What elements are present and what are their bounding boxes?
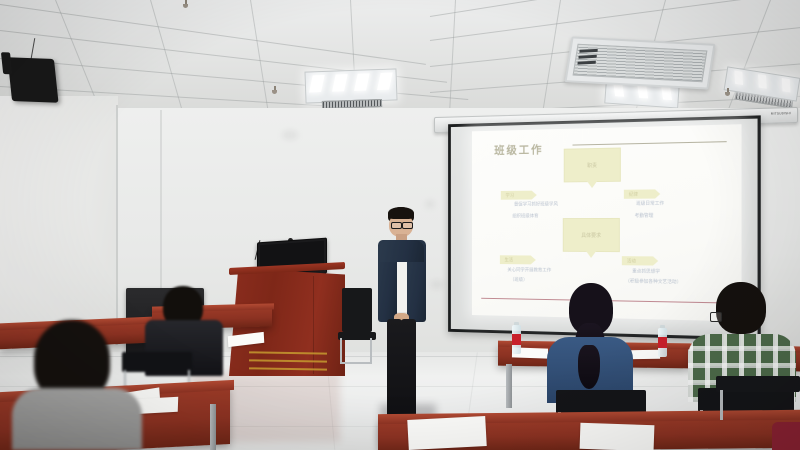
chair-foreground-right: [716, 376, 800, 424]
wall-mark-3: [430, 280, 444, 289]
flow-node-bottom-right-label: 活动: [622, 258, 636, 264]
paper-front-right-1: [407, 416, 486, 450]
desk-mid-left-leg: [210, 404, 216, 450]
wall-corner-seam: [116, 105, 118, 345]
flow-node-top: 职责: [564, 148, 621, 183]
presenter-pants-right: [401, 319, 416, 423]
ceiling-cassette-air-conditioner: [564, 36, 715, 89]
flow-node-left: 学习: [501, 191, 537, 200]
slide-text-left-2: 组织班级体育: [492, 213, 559, 219]
bottle-label-2: [658, 337, 667, 348]
standing-presenter: [372, 207, 430, 440]
fluorescent-ceiling-light: [304, 68, 397, 103]
flow-node-left-label: 学习: [501, 192, 514, 198]
flow-node-right: 纪律: [624, 189, 660, 198]
flow-node-top-label: 职责: [587, 162, 597, 169]
paper-front-right-2: [580, 423, 655, 450]
presenter-jacket-shoulders: [380, 240, 424, 262]
water-bottle-right: [657, 325, 668, 357]
student-plaid-shirt-head: [716, 282, 766, 334]
slide-text-bottom-left-2: （班级）: [500, 277, 538, 283]
bottle-label: [512, 334, 521, 345]
lectern-trim-1: [249, 351, 327, 354]
flow-node-bottom-right: 活动: [622, 256, 658, 265]
slide-text-right-2: 考勤管理: [622, 213, 667, 219]
flow-node-right-label: 纪律: [624, 191, 638, 197]
flow-node-bottom-left-label: 生活: [500, 257, 513, 263]
student-gray-shirt: [12, 320, 142, 450]
presenter-glasses-right: [402, 222, 413, 229]
student-red-bag: [772, 422, 800, 450]
presenter-pants-left: [387, 319, 402, 423]
slide-title: 班级工作: [494, 141, 543, 158]
wall-mark-1: [282, 130, 298, 140]
housing-brand-label: MITSUBISHI: [771, 111, 791, 116]
student-blue-sweater: [545, 283, 635, 403]
lectern-trim-3: [249, 367, 327, 370]
classroom-photo: MITSUBISHI 班级工作 职责 学习 督促学习抓好班级学风 组织班级体育 …: [0, 0, 800, 450]
lectern-trim-2: [249, 359, 327, 362]
desk-right-back-leg: [506, 364, 512, 408]
presenter-glasses: [391, 222, 402, 229]
slide-text-bottom-left-1: 关心同学开展教育工作: [492, 267, 566, 274]
water-bottle-left: [511, 322, 522, 354]
presenter-hair-top: [388, 207, 414, 219]
flow-node-middle-label: 具体要求: [581, 231, 601, 238]
slide-text-left-1: 督促学习抓好班级学风: [492, 201, 580, 207]
fire-sprinkler-icon: [183, 0, 188, 9]
student-blue-sweater-ponytail-lower: [578, 345, 600, 389]
flow-node-middle: 具体要求: [563, 218, 620, 252]
fire-sprinkler-icon-2: [272, 86, 277, 95]
slide-title-rule: [572, 141, 726, 145]
flow-node-bottom-left: 生活: [500, 255, 536, 264]
student-plaid-glasses: [710, 312, 722, 322]
slide-text-right-1: 班级日常工作: [622, 200, 679, 206]
wall-mounted-speaker: [7, 57, 58, 102]
student-gray-shirt-body: [12, 388, 142, 450]
fire-sprinkler-icon-3: [725, 88, 730, 97]
slide-text-bottom-right-1: 重点抓思想学: [621, 268, 672, 275]
